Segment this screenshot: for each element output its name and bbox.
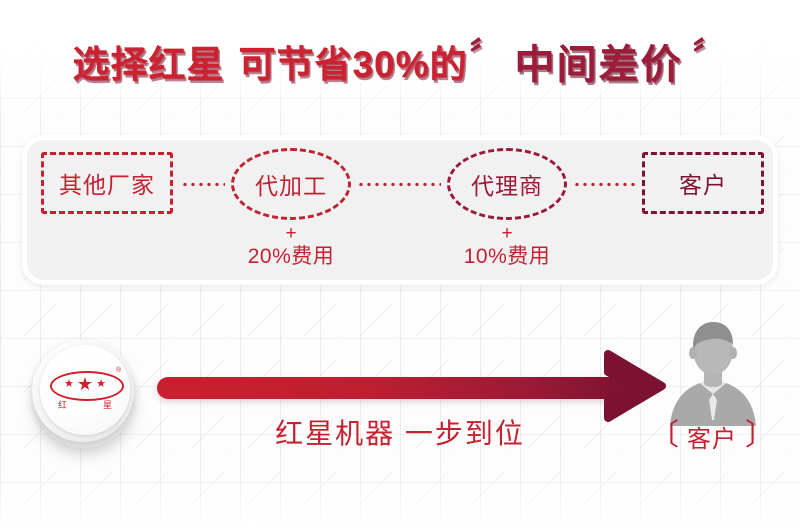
connector-oem-to-agent [357, 183, 441, 186]
customer-tag: 〔 客户 〕 [644, 418, 780, 454]
registered-trademark-icon: ® [116, 367, 121, 374]
fee-amount-agent: 10%费用 [427, 242, 587, 272]
bracket-left-icon: 〔 [649, 421, 679, 451]
fee-annotation-agent: + 10%费用 [427, 226, 587, 272]
connector-agent-to-customer [573, 183, 637, 186]
logo-stars-group: ★ ★ ★ [50, 373, 120, 395]
flow-node-customer-label: 客户 [679, 166, 727, 200]
direct-supply-arrow-shaft [157, 377, 627, 399]
background-bottom-fade [0, 470, 800, 530]
connector-other-to-oem [181, 183, 225, 186]
flow-diagram: 其他厂家 代加工 代理商 客户 + 20%费用 + 10%费用 [27, 140, 783, 290]
title-emphasis: 中间差价 [515, 32, 683, 90]
bracket-right-icon: 〕 [745, 421, 775, 451]
title-part-2: 可节省30%的 [238, 34, 467, 88]
star-small-left-icon: ★ [64, 379, 74, 390]
flow-node-agent-label: 代理商 [471, 167, 543, 201]
infographic-canvas: 选择红星 可节省30%的 〞 中间差价 〞 其他厂家 代加工 代理商 客户 [0, 0, 800, 530]
bottom-slogan: 红星机器 一步到位 [230, 412, 570, 452]
title-part-1: 选择红星 [72, 34, 224, 88]
star-small-right-icon: ★ [96, 379, 106, 390]
hongxing-logo-mark: ★ ★ ★ 红 星 ® [40, 345, 130, 435]
arrow-right-icon [604, 350, 666, 422]
flow-node-customer: 客户 [642, 152, 764, 214]
customer-tag-label: 客户 [687, 419, 737, 454]
plus-sign-oem: + [211, 226, 371, 242]
flow-node-oem-label: 代加工 [255, 167, 327, 201]
quote-open-icon: 〞 [470, 28, 503, 76]
middleman-flow-panel: 其他厂家 代加工 代理商 客户 + 20%费用 + 10%费用 [22, 135, 778, 285]
fee-amount-oem: 20%费用 [211, 242, 371, 272]
customer-avatar-silhouette-icon [660, 316, 766, 426]
logo-word-right: 星 [103, 398, 112, 411]
plus-sign-agent: + [427, 226, 587, 242]
fee-annotation-oem: + 20%费用 [211, 226, 371, 272]
flow-node-agent: 代理商 [447, 148, 567, 220]
flow-node-other-factory-label: 其他厂家 [59, 166, 155, 200]
logo-wordmark: 红 星 [50, 398, 120, 411]
flow-node-oem: 代加工 [231, 148, 351, 220]
logo-word-left: 红 [58, 398, 67, 411]
star-large-icon: ★ [77, 375, 93, 393]
brand-logo-badge: ★ ★ ★ 红 星 ® [32, 340, 138, 446]
quote-close-icon: 〞 [693, 28, 726, 76]
page-title: 选择红星 可节省30%的 〞 中间差价 〞 [0, 26, 800, 96]
flow-node-other-factory: 其他厂家 [41, 152, 173, 214]
